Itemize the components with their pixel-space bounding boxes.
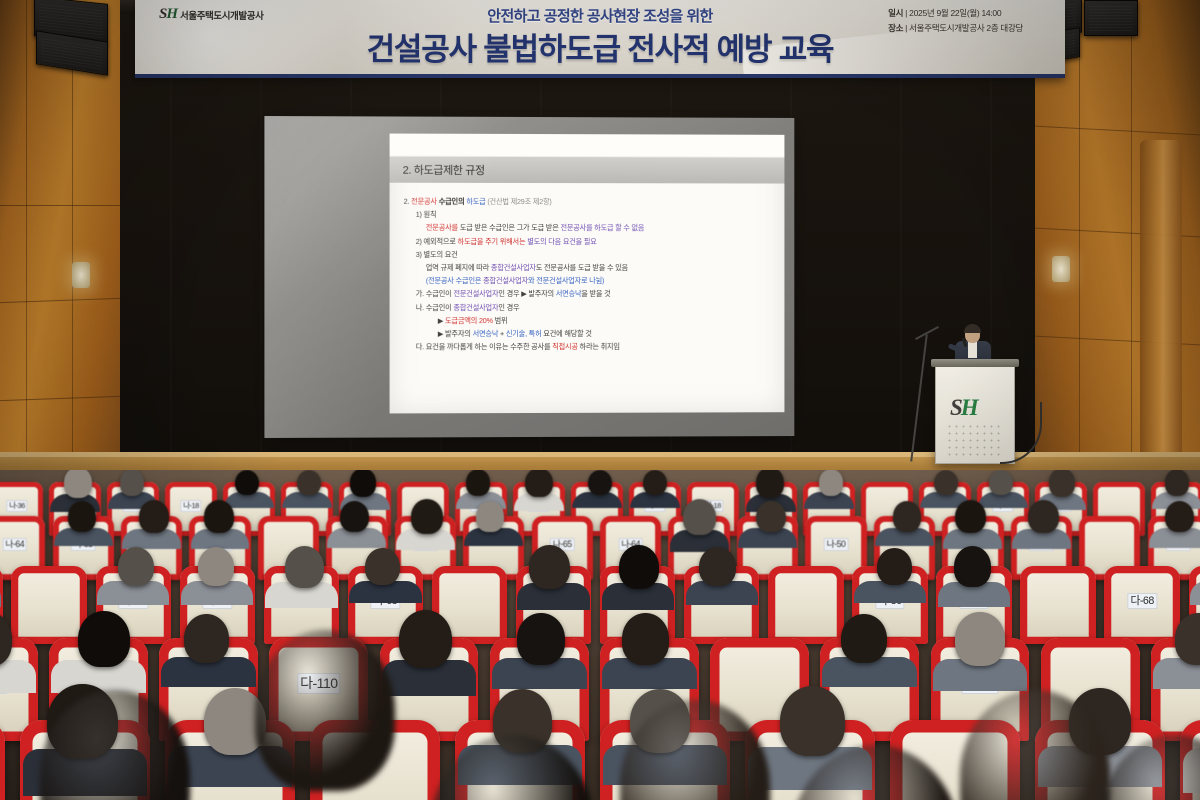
- audience-member-head: [517, 613, 564, 664]
- audience-member-head: [350, 470, 376, 497]
- audience-member-head: [1049, 470, 1075, 497]
- wall-light: [72, 262, 90, 288]
- audience-member-head: [139, 500, 170, 533]
- seat-row: 다-86다-70다-68다-64다-86다-70다-68: [0, 566, 1200, 644]
- seat-number-label: 나-50: [824, 538, 849, 552]
- audience-member-head: [529, 545, 570, 589]
- slide-line: 2) 예외적으로 하도급을 주기 위해서는 별도의 다음 요건을 필요: [416, 234, 775, 247]
- slide-line: 가. 수급인이 전문건설사업자인 경우 ▶ 발주자의 서면승낙을 받을 것: [416, 287, 775, 300]
- audience-member-head: [297, 470, 321, 495]
- seat-number-label: 다-68: [1127, 593, 1156, 610]
- slide-line: ▶ 발주자의 서면승낙 + 신기술, 특허 요건에 해당할 것: [438, 327, 775, 341]
- audience-member-head: [955, 500, 986, 533]
- seat-number-label: 나-36: [6, 500, 27, 512]
- audience-member-head: [64, 470, 92, 498]
- audience-member-head: [1165, 501, 1194, 533]
- banner-event-details: 일시 | 2025년 9월 22일(월) 14:00 장소 | 서울주택도시개발…: [888, 6, 1023, 36]
- lectern-top: [931, 359, 1019, 367]
- audience-member-head: [954, 546, 992, 587]
- audience-member-head: [78, 611, 129, 666]
- banner-date-value: 2025년 9월 22일(월) 14:00: [909, 8, 1001, 18]
- wall-pillar: [1140, 140, 1182, 480]
- slide-line: 1) 원칙: [416, 208, 775, 222]
- audience-member-head: [285, 546, 324, 588]
- presenter-shirt: [968, 342, 977, 358]
- audience-member-head: [622, 613, 669, 664]
- slide-body-text: 2. 전문공사 수급인의 하도급 (건산법 제29조 제2항)1) 원칙전문공사…: [390, 183, 785, 354]
- slide-section-heading: 2. 하도급제한 규정: [390, 157, 785, 184]
- audience-member-head: [841, 614, 886, 663]
- seat-back: [768, 566, 843, 644]
- seat-number-label: 나-64: [2, 538, 27, 552]
- seat-back: [0, 720, 5, 800]
- audience-member-head: [365, 548, 400, 585]
- slide-line: 3) 별도의 요건: [416, 248, 775, 261]
- lectern-sh-logo: SH: [950, 395, 977, 421]
- audience-member-head: [120, 470, 145, 496]
- audience-member-head: [525, 470, 552, 497]
- audience-member-head: [756, 501, 785, 533]
- auditorium-seat: [11, 566, 86, 644]
- audience-member-head: [989, 470, 1013, 495]
- audience-member-head: [819, 470, 844, 496]
- banner-place-label: 장소: [888, 23, 903, 33]
- banner-date-label: 일시: [888, 8, 903, 18]
- audience-member-head: [877, 548, 912, 585]
- banner-place-value: 서울주택도시개발공사 2층 대강당: [909, 23, 1023, 33]
- wall-speaker-icon: [1084, 0, 1138, 36]
- seat-number-label: 나-18: [180, 500, 201, 512]
- auditorium-seat: 다-68: [1104, 566, 1179, 644]
- audience-member-head: [699, 547, 735, 586]
- slide-line: 다. 요건을 까다롭게 하는 이유는 수주한 공사를 직접시공 하라는 취지임: [416, 340, 775, 354]
- slide-top-margin: [390, 134, 785, 158]
- audience-member-head: [118, 547, 154, 586]
- projection-screen: 2. 하도급제한 규정 2. 전문공사 수급인의 하도급 (건산법 제29조 제…: [264, 116, 794, 438]
- audience-member-head: [399, 610, 452, 668]
- foreground-audience-head: [255, 630, 395, 791]
- audience-member-head: [204, 500, 235, 533]
- audience-member-head: [235, 470, 259, 495]
- event-banner: SH 서울주택도시개발공사 안전하고 공정한 공사현장 조성을 위한 건설공사 …: [135, 0, 1065, 78]
- slide-line: 2. 전문공사 수급인의 하도급 (건산법 제29조 제2항): [404, 195, 775, 209]
- audience-member-head: [643, 470, 667, 495]
- presenter-hair: [964, 324, 981, 333]
- slide-line: 나. 수급인이 종합건설사업자인 경우: [416, 300, 775, 313]
- lectern-perforation: [946, 423, 1002, 457]
- presentation-slide: 2. 하도급제한 규정 2. 전문공사 수급인의 하도급 (건산법 제29조 제…: [390, 134, 785, 414]
- auditorium-seat: [1020, 566, 1095, 644]
- wall-light: [1052, 256, 1070, 282]
- auditorium-seat: [684, 566, 759, 644]
- audience-member-head: [1028, 500, 1059, 533]
- auditorium-seat: 다-111: [0, 720, 5, 800]
- audience-member-head: [893, 501, 921, 531]
- audience-member-head: [756, 470, 784, 498]
- audience-member-head: [340, 501, 369, 533]
- slide-line: 업역 규제 폐지에 따라 종합건설사업자도 전문공사를 도급 받을 수 있음: [426, 261, 775, 274]
- audience-member-head: [588, 470, 612, 495]
- audience-member-head: [619, 545, 660, 589]
- auditorium-seat: [768, 566, 843, 644]
- audience-member-head: [780, 686, 845, 756]
- auditorium-photo: SH 서울주택도시개발공사 안전하고 공정한 공사현장 조성을 위한 건설공사 …: [0, 0, 1200, 800]
- audience-member-head: [1165, 470, 1190, 496]
- slide-line: 전문공사를 도급 받은 수급인은 그가 도급 받은 전문공사를 하도급 할 수 …: [426, 221, 775, 235]
- seat-back: [11, 566, 86, 644]
- audience-member-head: [198, 547, 234, 586]
- audience-member-head: [683, 499, 716, 535]
- audience-member-shoulders: [0, 660, 36, 694]
- audience-member-head: [934, 470, 958, 495]
- audience-member-head: [466, 470, 491, 496]
- slide-line: ▶ 도급금액의 20% 범위: [438, 314, 775, 328]
- audience-member-head: [476, 501, 504, 531]
- audience-member-head: [411, 499, 443, 533]
- audience-member-head: [184, 614, 229, 663]
- audience-member-head: [955, 612, 1004, 665]
- slide-line: (전문공사 수급인은 종합건설사업자와 전문건설사업자로 나뉨): [426, 274, 775, 287]
- seat-back: [1020, 566, 1095, 644]
- audience-member-head: [68, 501, 96, 531]
